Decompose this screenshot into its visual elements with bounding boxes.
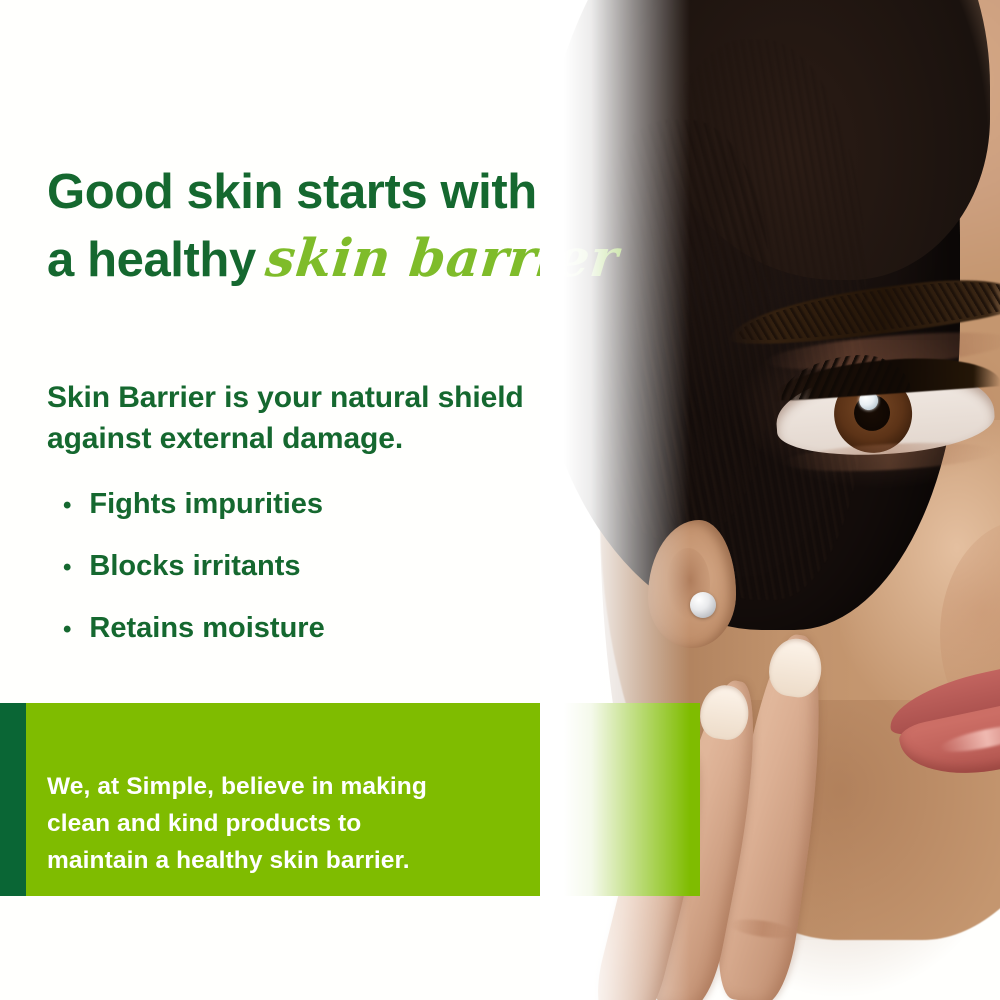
bullet-icon: •	[63, 556, 71, 580]
banner-text: We, at Simple, believe in making clean a…	[47, 768, 587, 880]
headline-script-accent: skin barrier	[252, 225, 621, 293]
brand-statement-banner: We, at Simple, believe in making clean a…	[0, 703, 700, 896]
headline-line-2-plain: a healthy	[47, 233, 256, 287]
bullet-icon: •	[63, 494, 71, 518]
benefits-list: • Fights impurities • Blocks irritants •…	[63, 490, 563, 676]
bullet-icon: •	[63, 618, 71, 642]
subheadline-line-2: against external damage.	[47, 419, 587, 460]
subheadline: Skin Barrier is your natural shield agai…	[47, 378, 587, 460]
list-item: • Fights impurities	[63, 490, 563, 519]
list-item: • Blocks irritants	[63, 552, 563, 581]
banner-accent-strip	[0, 703, 26, 896]
subheadline-line-1: Skin Barrier is your natural shield	[47, 378, 587, 419]
banner-line-2: clean and kind products to	[47, 805, 587, 842]
banner-line-1: We, at Simple, believe in making	[47, 768, 587, 805]
headline-line-1: Good skin starts with	[47, 161, 627, 225]
list-item-label: Fights impurities	[89, 490, 323, 519]
list-item-label: Retains moisture	[89, 614, 324, 643]
headline-line-2: a healthyskin barrier	[47, 225, 627, 293]
headline: Good skin starts with a healthyskin barr…	[47, 161, 627, 292]
ad-creative: Good skin starts with a healthyskin barr…	[0, 0, 1000, 1000]
list-item-label: Blocks irritants	[89, 552, 300, 581]
banner-line-3: maintain a healthy skin barrier.	[47, 842, 587, 879]
list-item: • Retains moisture	[63, 614, 563, 643]
